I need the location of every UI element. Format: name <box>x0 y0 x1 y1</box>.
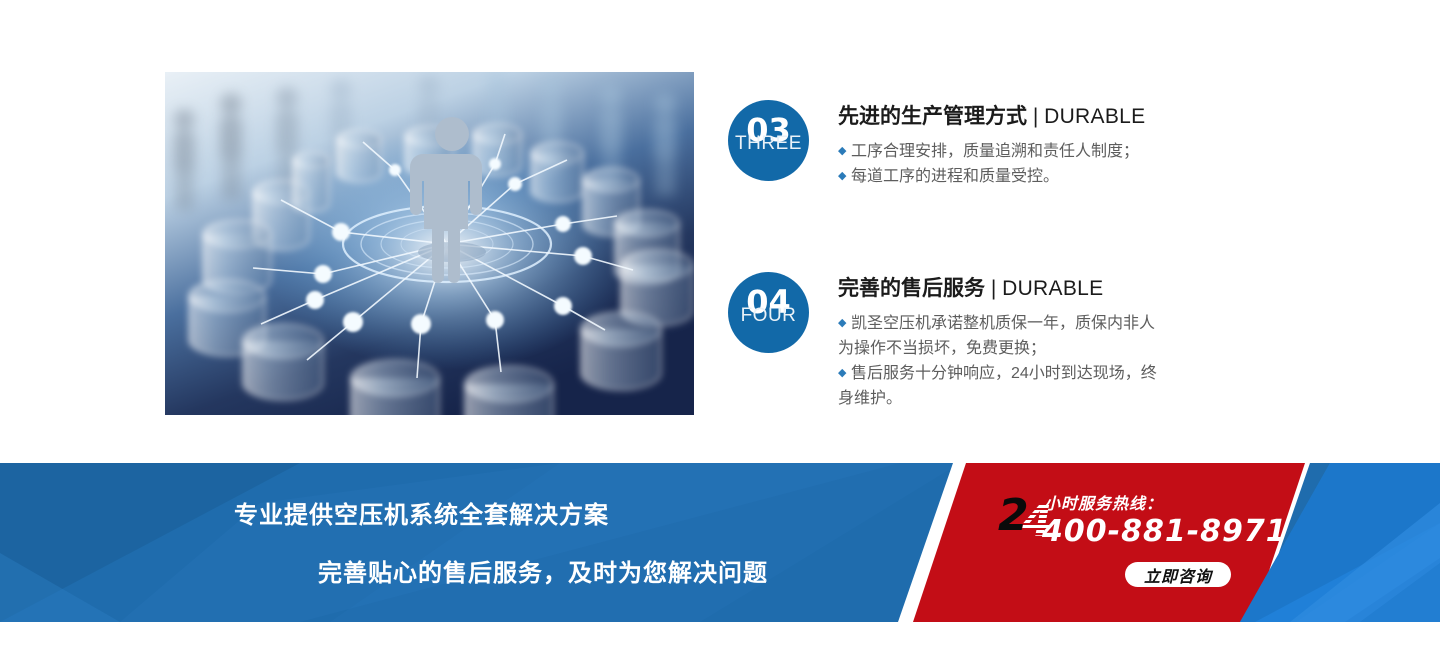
feature-line-text: 售后服务十分钟响应，24小时到达现场，终 <box>851 365 1157 382</box>
feature-title-en: DURABLE <box>1044 105 1145 128</box>
hotline-label: 小时服务热线： <box>1044 490 1163 514</box>
promo-page: 03 THREE 先进的生产管理方式 | DURABLE ◆ 工序合理安排，质量… <box>0 0 1440 663</box>
banner-slogan: 专业提供空压机系统全套解决方案 完善贴心的售后服务，及时为您解决问题 <box>0 463 960 622</box>
bullet-icon: ◆ <box>838 311 846 336</box>
feature-block-04: 04 FOUR 完善的售后服务 | DURABLE ◆ 凯圣空压机承诺整机质保一… <box>728 272 1258 411</box>
bullet-icon: ◆ <box>838 361 846 386</box>
badge-word: THREE <box>728 134 809 154</box>
badge-number-03: 03 THREE <box>728 100 809 181</box>
slogan-line-1: 专业提供空压机系统全套解决方案 <box>234 495 609 530</box>
slogan-line-2: 完善贴心的售后服务，及时为您解决问题 <box>318 553 768 588</box>
bullet-icon: ◆ <box>838 139 846 164</box>
feature-title-separator: | <box>1027 105 1044 128</box>
feature-block-03: 03 THREE 先进的生产管理方式 | DURABLE ◆ 工序合理安排，质量… <box>728 100 1258 189</box>
badge-number-04: 04 FOUR <box>728 272 809 353</box>
feature-title-cn: 先进的生产管理方式 <box>838 105 1027 128</box>
feature-line-text: 每道工序的进程和质量受控。 <box>851 168 1059 185</box>
feature-text-04: 完善的售后服务 | DURABLE ◆ 凯圣空压机承诺整机质保一年，质保内非人 … <box>838 272 1258 411</box>
consult-now-button[interactable]: 立即咨询 <box>1125 562 1231 587</box>
feature-line-text: 工序合理安排，质量追溯和责任人制度； <box>851 143 1139 160</box>
feature-title-03: 先进的生产管理方式 | DURABLE <box>838 104 1258 130</box>
feature-title-cn: 完善的售后服务 <box>838 277 985 300</box>
hotline-phone-number: 400-881-8971 <box>1042 514 1288 549</box>
feature-line: 为操作不当损坏，免费更换； <box>838 336 1258 361</box>
feature-title-04: 完善的售后服务 | DURABLE <box>838 276 1258 302</box>
feature-line: 身维护。 <box>838 386 1258 411</box>
feature-line: ◆ 工序合理安排，质量追溯和责任人制度； <box>838 139 1258 164</box>
feature-line-text: 身维护。 <box>838 390 902 407</box>
feature-line-text: 凯圣空压机承诺整机质保一年，质保内非人 <box>851 315 1155 332</box>
feature-title-separator: | <box>985 277 1002 300</box>
bullet-icon: ◆ <box>838 164 846 189</box>
network-people-illustration <box>165 72 694 415</box>
feature-line-text: 为操作不当损坏，免费更换； <box>838 340 1046 357</box>
feature-line: ◆ 每道工序的进程和质量受控。 <box>838 164 1258 189</box>
hotline-block: 2 4 小时服务热线： 400-881-8971 立即咨询 <box>998 486 1298 616</box>
feature-title-en: DURABLE <box>1002 277 1103 300</box>
feature-lines-04: ◆ 凯圣空压机承诺整机质保一年，质保内非人 为操作不当损坏，免费更换； ◆ 售后… <box>838 311 1258 411</box>
feature-line: ◆ 凯圣空压机承诺整机质保一年，质保内非人 <box>838 311 1258 336</box>
feature-text-03: 先进的生产管理方式 | DURABLE ◆ 工序合理安排，质量追溯和责任人制度；… <box>838 100 1258 189</box>
feature-line: ◆ 售后服务十分钟响应，24小时到达现场，终 <box>838 361 1258 386</box>
feature-lines-03: ◆ 工序合理安排，质量追溯和责任人制度； ◆ 每道工序的进程和质量受控。 <box>838 139 1258 189</box>
badge-word: FOUR <box>728 306 809 326</box>
consult-now-label: 立即咨询 <box>1144 563 1212 587</box>
